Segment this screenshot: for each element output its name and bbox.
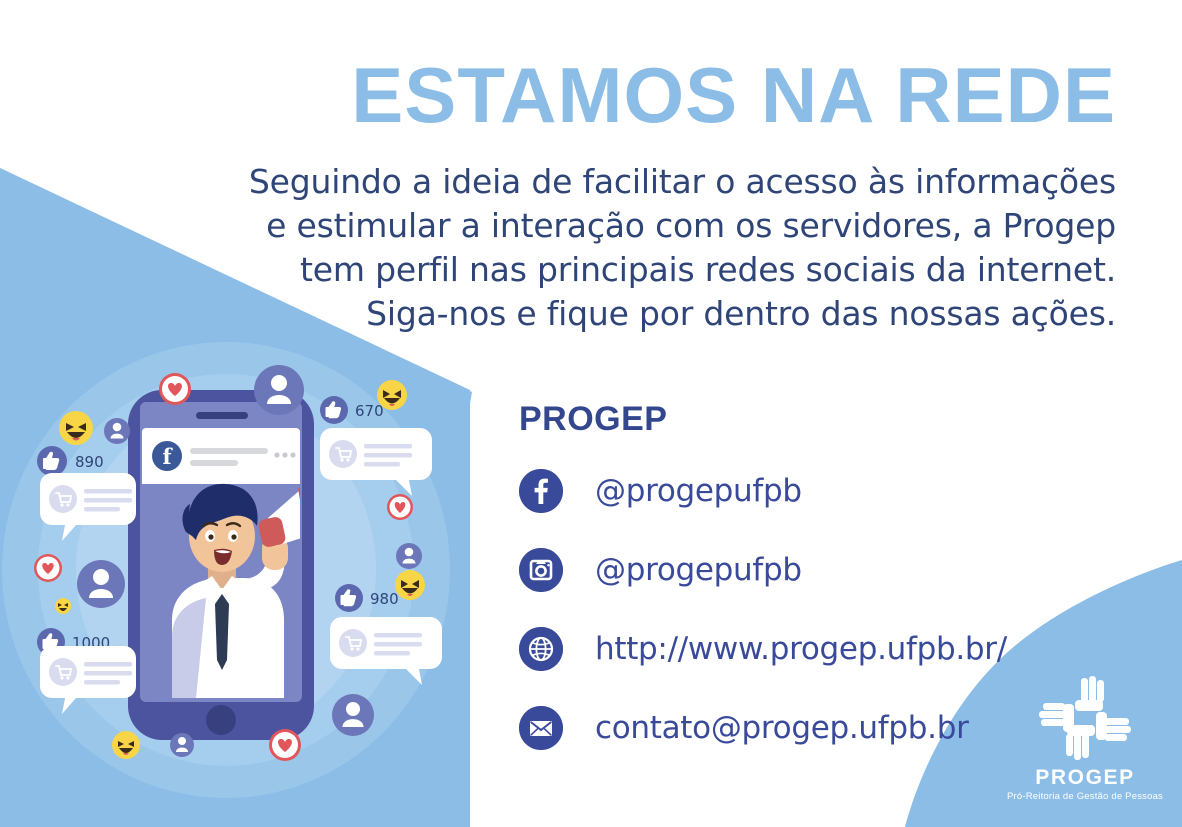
heart-reaction-icon	[159, 373, 191, 405]
progep-logo-name: PROGEP	[1005, 766, 1165, 790]
progep-logo-tagline: Pró-Reitoria de Gestão de Pessoas	[1005, 791, 1165, 802]
progep-logo-mark	[1035, 672, 1135, 764]
contact-row-facebook[interactable]: @progepufpb	[519, 465, 1139, 517]
like-count-label: 980	[370, 590, 399, 608]
heart-reaction-icon	[34, 554, 62, 582]
laughing-emoji-icon	[112, 731, 140, 759]
social-media-illustration: f	[0, 340, 480, 810]
instagram-icon	[519, 548, 563, 592]
website-url: http://www.progep.ufpb.br/	[595, 632, 1007, 666]
intro-paragraph: Seguindo a ideia de facilitar o acesso à…	[230, 160, 1116, 336]
like-count-label: 670	[355, 402, 384, 420]
contact-row-instagram[interactable]: @progepufpb	[519, 544, 1139, 596]
like-count-label: 890	[75, 453, 104, 471]
thumbs-up-icon	[37, 446, 67, 476]
user-avatar-icon	[170, 733, 194, 757]
page-title: ESTAMOS NA REDE	[250, 54, 1116, 136]
thumbs-up-icon	[335, 584, 363, 612]
brand-heading: PROGEP	[519, 400, 667, 439]
heart-reaction-icon	[387, 494, 413, 520]
facebook-post-card: f	[142, 428, 300, 484]
facebook-icon	[519, 469, 563, 513]
facebook-handle: @progepufpb	[595, 474, 802, 508]
progep-logo: PROGEP Pró-Reitoria de Gestão de Pessoas	[1005, 672, 1165, 802]
thumbs-up-icon	[320, 396, 348, 424]
user-avatar-icon	[254, 365, 304, 415]
user-avatar-icon	[104, 418, 130, 444]
heart-reaction-icon	[269, 729, 301, 761]
user-avatar-icon	[332, 694, 374, 736]
user-avatar-icon	[77, 560, 125, 608]
user-avatar-icon	[396, 543, 422, 569]
contact-row-website[interactable]: http://www.progep.ufpb.br/	[519, 623, 1139, 675]
email-address: contato@progep.ufpb.br	[595, 711, 969, 745]
laughing-emoji-icon	[395, 570, 425, 600]
mail-icon	[519, 706, 563, 750]
laughing-emoji-icon	[55, 598, 71, 614]
instagram-handle: @progepufpb	[595, 553, 802, 587]
globe-icon	[519, 627, 563, 671]
laughing-emoji-icon	[59, 411, 93, 445]
poster-canvas: ESTAMOS NA REDE Seguindo a ideia de faci…	[0, 0, 1182, 827]
